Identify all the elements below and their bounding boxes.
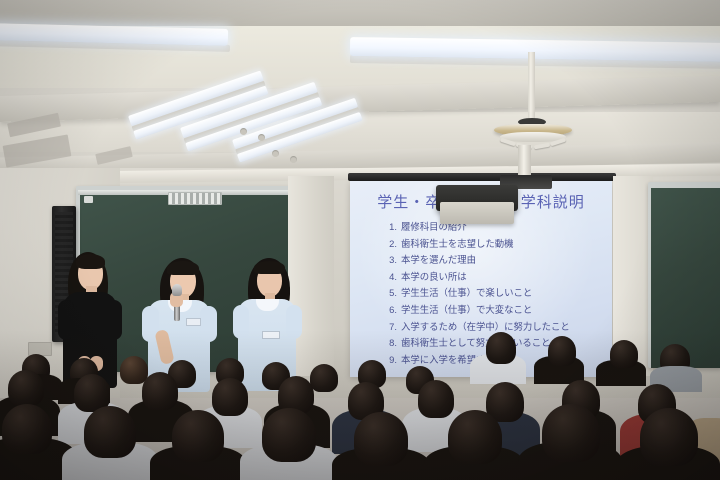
projector-pole bbox=[528, 52, 535, 124]
slide-list-item: 3.本学を選んだ理由 bbox=[382, 252, 610, 269]
ceiling-beam-top bbox=[0, 0, 720, 26]
presenter-2-bangs bbox=[167, 261, 199, 275]
slide-list-item-number: 5. bbox=[382, 285, 397, 302]
screen-roller-bar bbox=[348, 173, 616, 181]
slide-list-item-number: 3. bbox=[382, 252, 397, 269]
presenter-2-name-badge bbox=[186, 318, 201, 326]
audience-member bbox=[84, 406, 136, 458]
slide-list-item-number: 1. bbox=[382, 219, 397, 236]
audience-member bbox=[120, 356, 148, 384]
lamp-fitting-4 bbox=[290, 156, 297, 163]
audience-member bbox=[212, 378, 248, 416]
projector-stem bbox=[518, 145, 531, 177]
audience-member bbox=[8, 370, 44, 406]
slide-list-item: 6.学生生活（仕事）で大変なこと bbox=[382, 302, 610, 319]
audience-member bbox=[2, 404, 52, 454]
audience-member bbox=[310, 364, 338, 392]
slide-list-item: 4.本学の良い所は bbox=[382, 269, 610, 286]
projector-mount-arms bbox=[500, 138, 566, 150]
slide-list-item-number: 2. bbox=[382, 236, 397, 253]
audience-member bbox=[548, 336, 576, 366]
audience-member bbox=[262, 408, 316, 462]
lecture-hall-photo: 学生・卒業生による学科説明 1.履修科目の紹介2.歯科衛生士を志望した動機3.本… bbox=[0, 0, 720, 480]
slide-list-item-number: 4. bbox=[382, 269, 397, 286]
paper-clips bbox=[168, 192, 222, 205]
slide-list-item-text: 学生生活（仕事）で楽しいこと bbox=[401, 287, 532, 298]
audience-member bbox=[418, 380, 454, 418]
presenter-3-bangs bbox=[254, 261, 285, 274]
slide-list-item: 2.歯科衛生士を志望した動機 bbox=[382, 236, 610, 253]
slide-list-item-text: 本学を選んだ理由 bbox=[401, 254, 476, 265]
chalkboard-label bbox=[84, 196, 93, 203]
slide-list-item-number: 6. bbox=[382, 302, 397, 319]
lamp-fitting-1 bbox=[240, 128, 247, 135]
lamp-fitting-3 bbox=[272, 150, 279, 157]
projector-lens-housing bbox=[440, 202, 514, 224]
presenter-1-bangs bbox=[76, 254, 105, 269]
lamp-fitting-2 bbox=[258, 134, 265, 141]
slide-list-item-text: 本学の良い所は bbox=[401, 271, 467, 282]
audience-member bbox=[354, 412, 408, 466]
audience-member bbox=[172, 410, 224, 462]
microphone-head bbox=[172, 284, 182, 296]
audience-member bbox=[486, 332, 516, 364]
slide-list-item-text: 学生生活（仕事）で大変なこと bbox=[401, 304, 532, 315]
slide-list-item-text: 歯科衛生士を志望した動機 bbox=[401, 238, 514, 249]
audience bbox=[0, 330, 720, 480]
audience-member bbox=[542, 404, 600, 462]
audience-member bbox=[448, 410, 502, 464]
audience-member bbox=[640, 408, 698, 466]
audience-member bbox=[142, 372, 178, 410]
slide-list-item: 5.学生生活（仕事）で楽しいこと bbox=[382, 285, 610, 302]
audience-member bbox=[610, 340, 638, 368]
